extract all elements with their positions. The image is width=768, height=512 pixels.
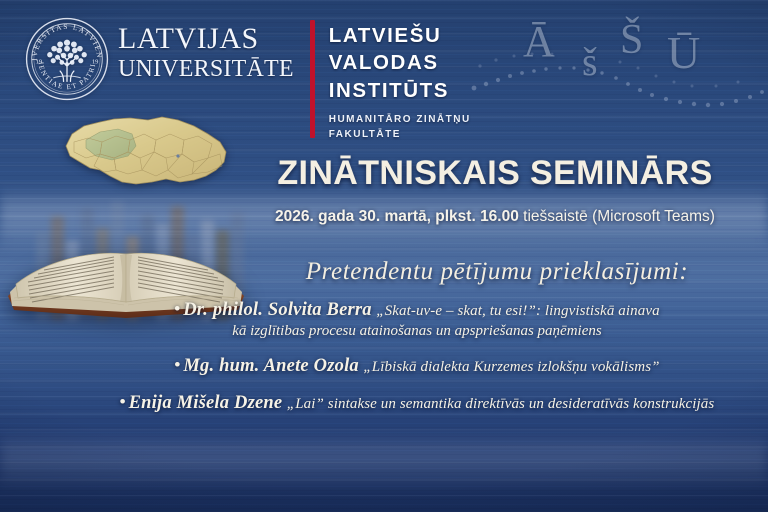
institute-line-3: INSTITŪTS bbox=[329, 77, 471, 104]
speaker-name: Mg. hum. Anete Ozola bbox=[183, 356, 359, 376]
list-item: •Mg. hum. Anete Ozola „Lībiskā dialekta … bbox=[82, 354, 752, 378]
decorative-letter-u-macron: Ū bbox=[667, 26, 700, 79]
event-datetime-line: 2026. gada 30. martā, plkst. 16.00 tiešs… bbox=[236, 208, 754, 226]
event-date-bold: 2026. gada 30. martā, plkst. 16.00 bbox=[275, 208, 519, 225]
decorative-letter-s-caron-upper: Š bbox=[620, 16, 643, 64]
poster-title: ZINĀTNISKAIS SEMINĀRS bbox=[236, 154, 754, 193]
bullet-marker: • bbox=[174, 355, 180, 374]
institute-line-2: VALODAS bbox=[329, 49, 471, 76]
university-wordmark: LATVIJAS UNIVERSITĀTE bbox=[118, 24, 294, 81]
bullet-marker: • bbox=[120, 392, 126, 411]
list-item: •Dr. philol. Solvita Berra „Skat-uv-e – … bbox=[82, 298, 752, 342]
wordmark-line-2: UNIVERSITĀTE bbox=[118, 57, 294, 81]
lu-seal-icon: UNIVERSITAS LATVIENSIS SCIENTIAE ET PATR… bbox=[24, 16, 110, 102]
institute-line-1: LATVIEŠU bbox=[329, 22, 471, 49]
decorative-dotted-swirl bbox=[470, 26, 768, 122]
event-format-regular: tiešsaistē (Microsoft Teams) bbox=[523, 208, 715, 225]
svg-text:19: 19 bbox=[36, 58, 42, 65]
bullet-marker: • bbox=[174, 299, 180, 318]
institute-name-block: LATVIEŠU VALODAS INSTITŪTS HUMANITĀRO ZI… bbox=[329, 22, 471, 142]
presentation-topic: „Skat-uv-e – skat, tu esi!”: lingvistisk… bbox=[376, 303, 660, 319]
section-heading: Pretendentu pētījumu prieklasījumi: bbox=[236, 258, 758, 286]
decorative-letter-a-macron: Ā bbox=[523, 16, 555, 67]
faculty-line-1: HUMANITĀRO ZINĀTŅU bbox=[329, 113, 471, 128]
seminar-poster: Ā š Š Ū UNIVERSITAS LATVIENSIS SCIENTIAE… bbox=[0, 0, 768, 512]
presentation-topic: „Lībiskā dialekta Kurzemes izlokšņu vokā… bbox=[363, 359, 659, 375]
header-logo-lockup: UNIVERSITAS LATVIENSIS SCIENTIAE ET PATR… bbox=[24, 14, 471, 142]
presentation-topic: „Lai” sintakse un semantika direktīvās u… bbox=[287, 396, 715, 412]
decorative-letter-s-caron-lower: š bbox=[582, 38, 598, 85]
presentation-list: •Dr. philol. Solvita Berra „Skat-uv-e – … bbox=[82, 298, 752, 424]
wordmark-line-1: LATVIJAS bbox=[118, 24, 294, 54]
svg-text:19: 19 bbox=[92, 58, 98, 65]
list-item: •Enija Mišela Dzene „Lai” sintakse un se… bbox=[82, 391, 752, 415]
faculty-line-2: FAKULTĀTE bbox=[329, 128, 471, 143]
background-light-band-lower bbox=[0, 430, 768, 490]
speaker-name: Dr. philol. Solvita Berra bbox=[183, 300, 372, 320]
red-divider-bar bbox=[310, 20, 315, 138]
presentation-topic-cont: kā izglītibas procesu atainošanas un aps… bbox=[82, 322, 752, 342]
speaker-name: Enija Mišela Dzene bbox=[129, 393, 283, 413]
